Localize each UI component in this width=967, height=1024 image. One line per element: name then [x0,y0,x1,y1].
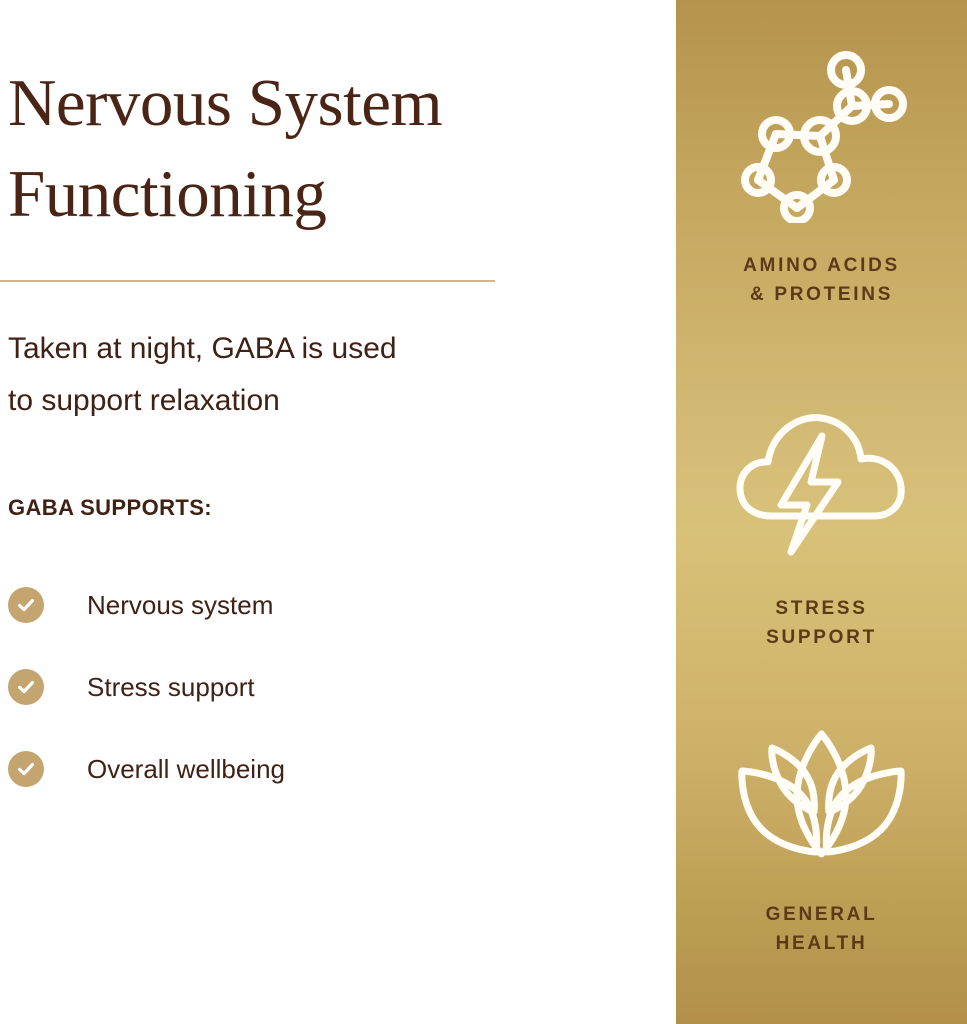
benefit-label: Overall wellbeing [87,756,285,782]
lotus-flower-icon [734,728,909,868]
feature-label-line-2: & PROTEINS [743,280,900,309]
subcopy-line-2: to support relaxation [8,375,608,427]
feature-rail: AMINO ACIDS & PROTEINS STRESS SUPPORT [676,0,967,1024]
feature-general-health: GENERAL HEALTH [676,728,967,959]
supports-heading: GABA SUPPORTS: [8,495,212,521]
cloud-lightning-icon [734,404,909,564]
benefits-list: Nervous system Stress support Overall we… [8,581,608,827]
check-icon [8,669,44,705]
list-item: Stress support [8,663,608,711]
benefit-label: Stress support [87,674,255,700]
feature-label-line-1: AMINO ACIDS [743,255,900,276]
feature-amino-acids: AMINO ACIDS & PROTEINS [676,48,967,310]
benefit-label: Nervous system [87,592,273,618]
feature-stress-support: STRESS SUPPORT [676,404,967,653]
molecule-icon [734,48,909,223]
title-divider [0,280,495,282]
list-item: Overall wellbeing [8,745,608,793]
feature-label: STRESS SUPPORT [766,594,877,653]
feature-label-line-2: SUPPORT [766,623,877,652]
check-icon [8,751,44,787]
page-title-line-2: Functioning [8,149,648,240]
subcopy-line-1: Taken at night, GABA is used [8,332,397,365]
feature-label: GENERAL HEALTH [766,900,878,959]
feature-label: AMINO ACIDS & PROTEINS [743,251,900,310]
feature-label-line-1: GENERAL [766,904,878,925]
page-title: Nervous System Functioning [8,58,648,240]
subcopy-text: Taken at night, GABA is used to support … [8,323,608,427]
list-item: Nervous system [8,581,608,629]
feature-label-line-2: HEALTH [766,929,878,958]
page-title-line-1: Nervous System [8,66,442,140]
left-content-panel: Nervous System Functioning Taken at nigh… [0,0,676,1024]
check-icon [8,587,44,623]
feature-label-line-1: STRESS [775,598,867,619]
product-benefit-infographic: Nervous System Functioning Taken at nigh… [0,0,967,1024]
